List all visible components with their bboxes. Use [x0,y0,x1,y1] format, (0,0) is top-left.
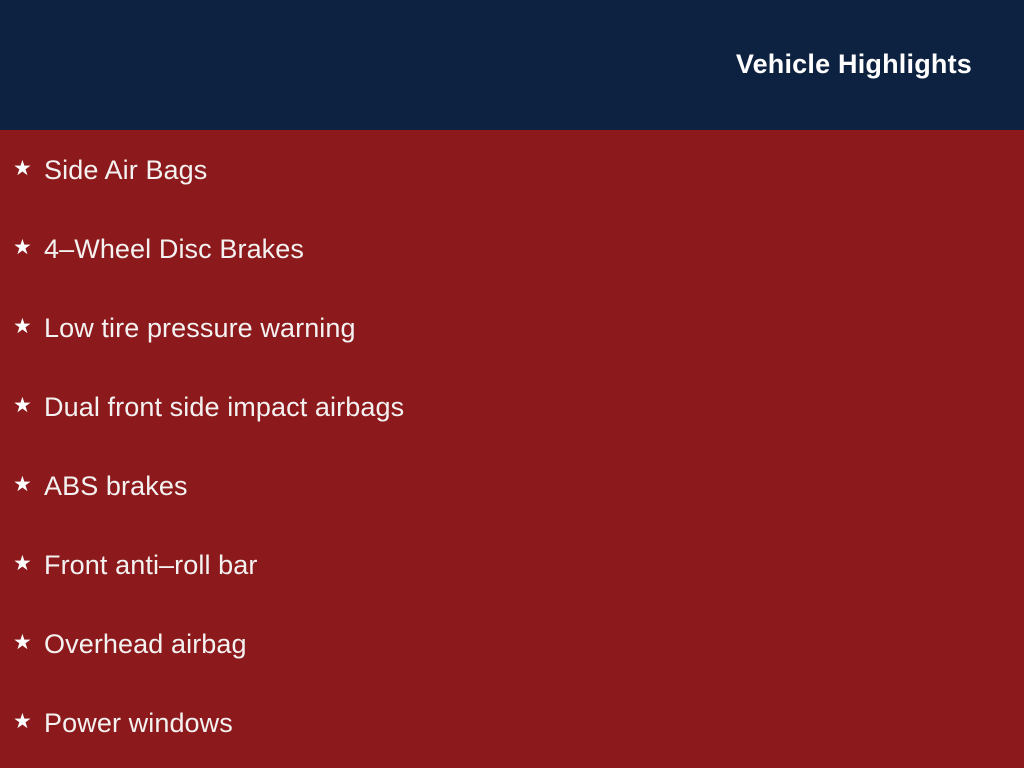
star-bullet-icon: ★ [13,237,44,258]
star-bullet-icon: ★ [13,711,44,732]
list-item: ★4–Wheel Disc Brakes [0,209,1024,288]
slide-header: Vehicle Highlights [0,0,1024,130]
list-item: ★Power windows [0,683,1024,762]
star-bullet-icon: ★ [13,395,44,416]
list-item: ★Dual front side impact airbags [0,367,1024,446]
star-bullet-icon: ★ [13,553,44,574]
list-item-label: 4–Wheel Disc Brakes [44,233,1024,265]
list-item: ★Overhead airbag [0,604,1024,683]
page-title: Vehicle Highlights [736,47,972,81]
star-bullet-icon: ★ [13,632,44,653]
list-item-label: Side Air Bags [44,154,1024,186]
list-item-label: Low tire pressure warning [44,312,1024,344]
list-item-label: Front anti–roll bar [44,549,1024,581]
list-item-label: Power windows [44,707,1024,739]
star-bullet-icon: ★ [13,316,44,337]
vehicle-highlights-slide: Vehicle Highlights ★Side Air Bags★4–Whee… [0,0,1024,768]
vehicle-highlights-list: ★Side Air Bags★4–Wheel Disc Brakes★Low t… [0,130,1024,762]
star-bullet-icon: ★ [13,474,44,495]
list-item: ★Front anti–roll bar [0,525,1024,604]
star-bullet-icon: ★ [13,158,44,179]
list-item-label: ABS brakes [44,470,1024,502]
list-item: ★Side Air Bags [0,130,1024,209]
list-item-label: Overhead airbag [44,628,1024,660]
slide-body: ★Side Air Bags★4–Wheel Disc Brakes★Low t… [0,130,1024,768]
list-item: ★Low tire pressure warning [0,288,1024,367]
list-item: ★ABS brakes [0,446,1024,525]
list-item-label: Dual front side impact airbags [44,391,1024,423]
